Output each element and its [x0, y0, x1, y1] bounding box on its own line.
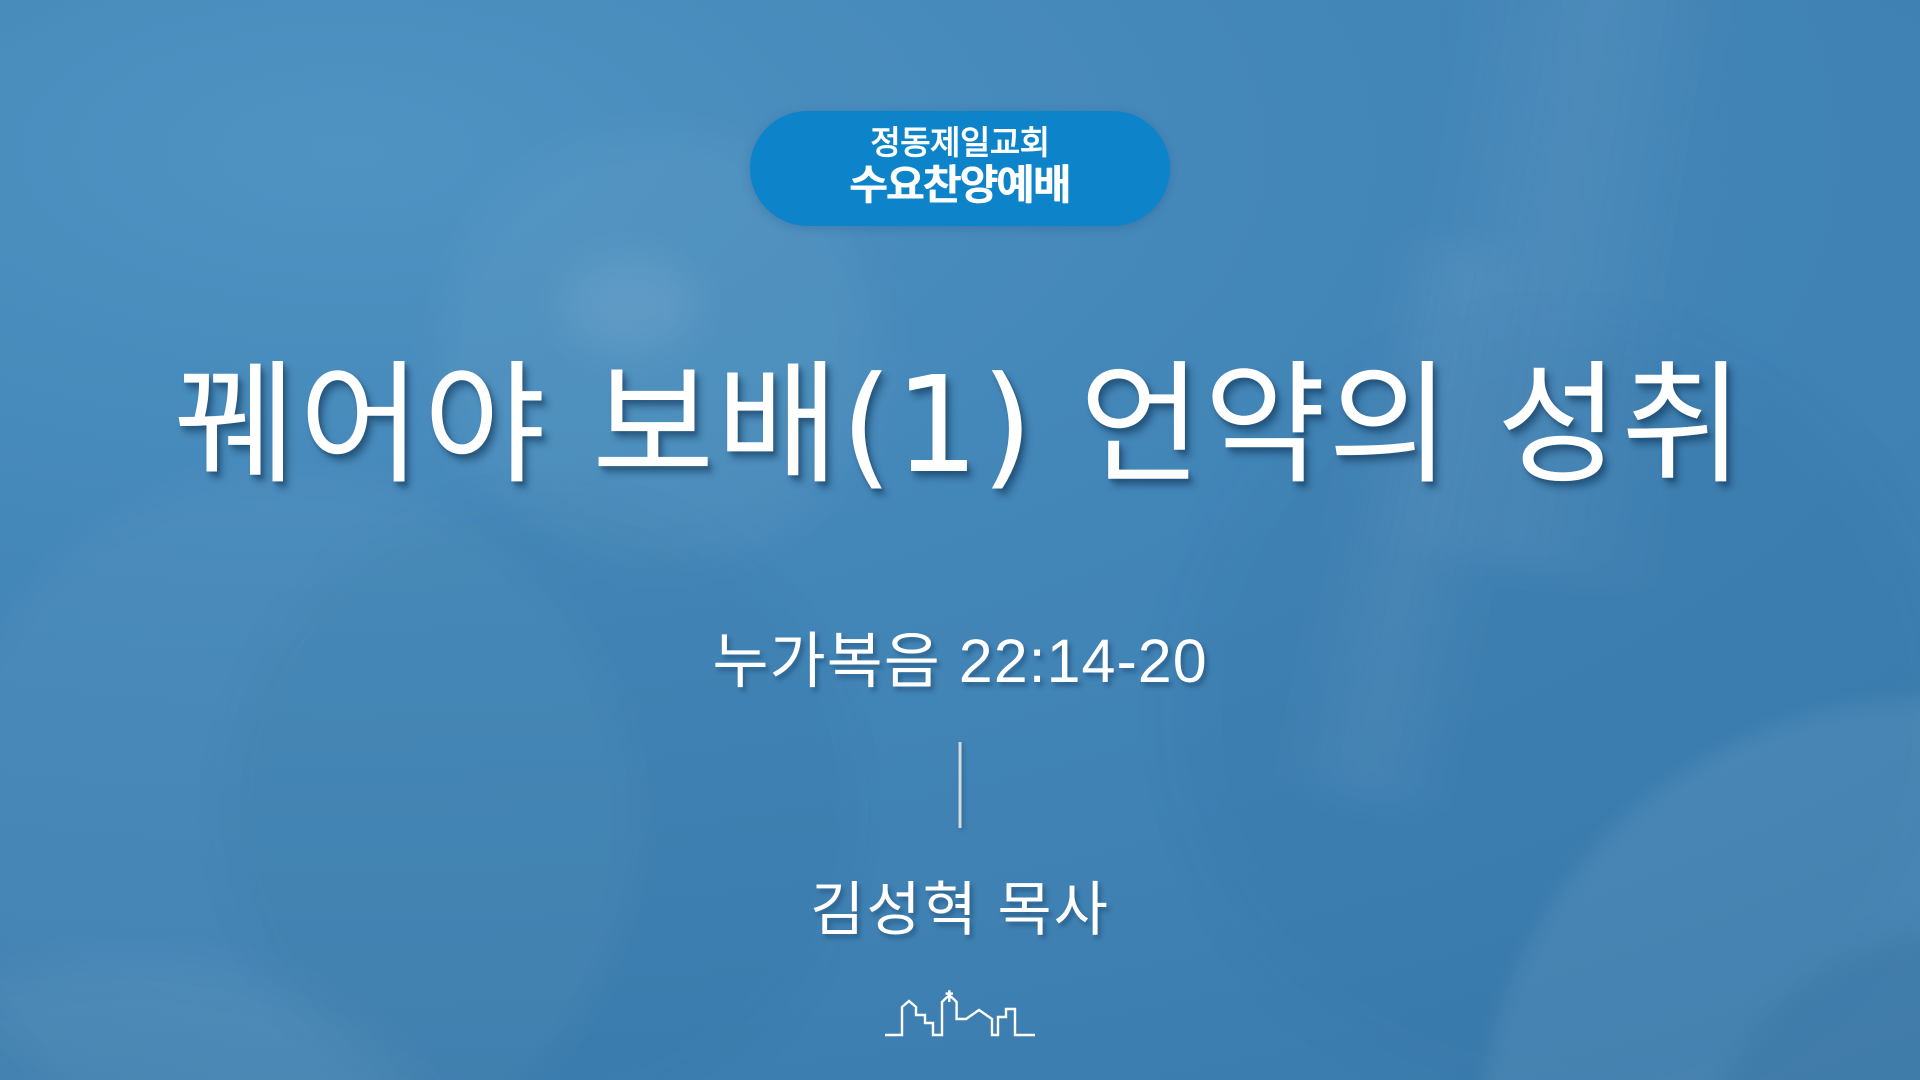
badge-service-name: 수요찬양예배	[802, 163, 1118, 208]
slide-content: 정동제일교회 수요찬양예배 꿰어야 보배(1) 언약의 성취 누가복음 22:1…	[0, 0, 1920, 1080]
preacher-name: 김성혁 목사	[0, 862, 1920, 947]
badge-church-name: 정동제일교회	[802, 125, 1118, 162]
service-badge: 정동제일교회 수요찬양예배	[750, 111, 1170, 226]
vertical-divider	[959, 742, 962, 828]
church-skyline-logo-icon	[884, 985, 1036, 1041]
sermon-title-slide: 정동제일교회 수요찬양예배 꿰어야 보배(1) 언약의 성취 누가복음 22:1…	[0, 0, 1920, 1080]
sermon-title: 꿰어야 보배(1) 언약의 성취	[0, 352, 1920, 501]
scripture-reference: 누가복음 22:14-20	[0, 611, 1920, 700]
